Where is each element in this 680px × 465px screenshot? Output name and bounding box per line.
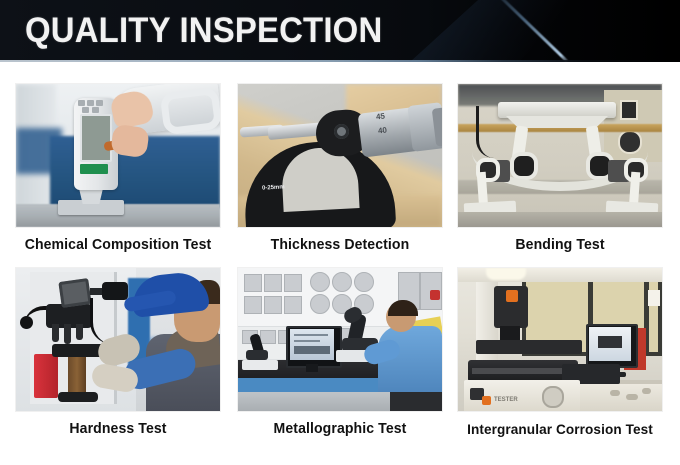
gallery-item-intergranular-corrosion-test[interactable]: TESTER Intergranular Corrosion Test — [458, 268, 662, 437]
gallery-item-caption: Intergranular Corrosion Test — [461, 421, 659, 437]
gallery-item-caption: Hardness Test — [19, 421, 217, 437]
photo-bending-rig[interactable] — [458, 84, 662, 227]
page-header: QUALITY INSPECTION — [0, 0, 680, 62]
micrometer-scale-label-45: 45 — [375, 111, 385, 121]
micrometer-frame-marking: 0-25mm — [262, 183, 285, 192]
cabinet-logo-icon — [482, 396, 491, 405]
machine-logo-icon — [506, 290, 518, 302]
gallery-item-caption: Metallographic Test — [241, 421, 439, 437]
gallery-item-caption: Chemical Composition Test — [19, 237, 217, 253]
micrometer-scale-label-40: 40 — [377, 125, 387, 135]
gallery-item-hardness-test[interactable]: Hardness Test — [16, 268, 220, 437]
gallery-item-chemical-composition-test[interactable]: Chemical Composition Test — [16, 84, 220, 253]
photo-vision-measuring-machine[interactable]: TESTER — [458, 268, 662, 411]
photo-metallography-lab[interactable] — [238, 268, 442, 411]
inspection-gallery: Chemical Composition Test 45 40 0-25mm T… — [0, 62, 680, 465]
photo-micrometer[interactable]: 45 40 0-25mm — [238, 84, 442, 227]
gallery-item-caption: Bending Test — [461, 237, 659, 253]
photo-hardness-tester[interactable] — [16, 268, 220, 411]
header-wedge-decoration — [410, 0, 580, 62]
gallery-item-thickness-detection[interactable]: 45 40 0-25mm Thickness Detection — [238, 84, 442, 253]
gallery-item-caption: Thickness Detection — [241, 237, 439, 253]
photo-xrf-analyzer[interactable] — [16, 84, 220, 227]
gallery-item-metallographic-test[interactable]: Metallographic Test — [238, 268, 442, 437]
cabinet-brand-text: TESTER — [494, 397, 518, 403]
gallery-item-bending-test[interactable]: Bending Test — [458, 84, 662, 253]
page-title: QUALITY INSPECTION — [25, 9, 382, 53]
